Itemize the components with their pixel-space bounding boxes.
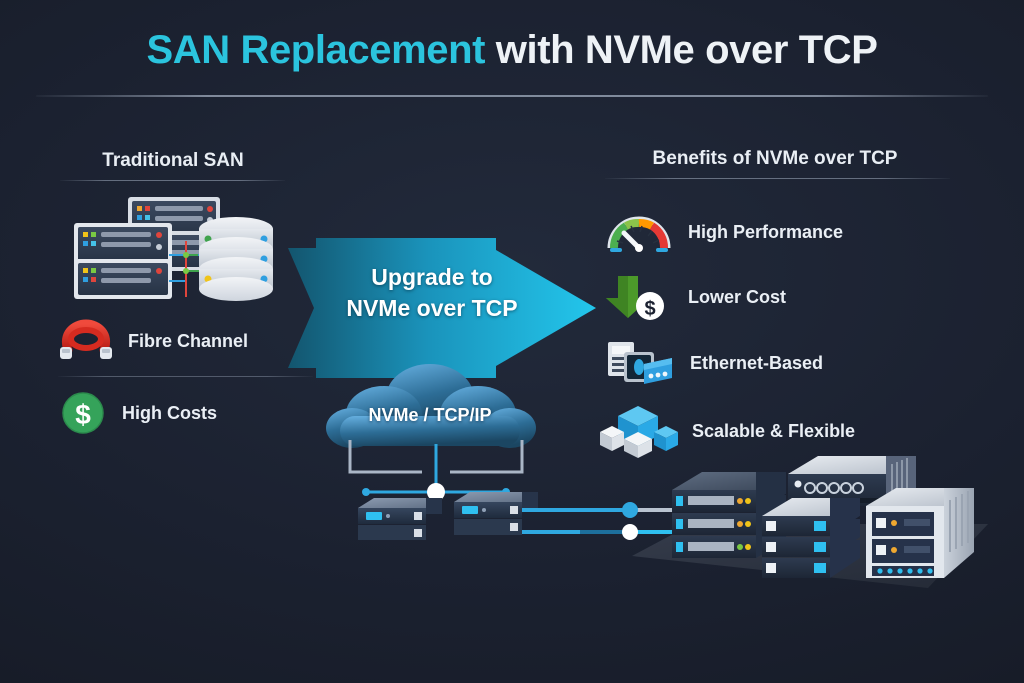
left-item-label: Fibre Channel: [128, 331, 248, 352]
page-title: SAN Replacement with NVMe over TCP: [0, 28, 1024, 73]
right-column-divider: [605, 178, 950, 179]
page-title-accent: SAN Replacement: [146, 28, 485, 72]
left-items-divider: [58, 376, 313, 377]
upgrade-arrow-banner: [288, 238, 600, 378]
green-down-arrow-dollar-icon: $: [604, 272, 674, 322]
left-column-divider: [60, 180, 285, 181]
left-item-fibre-channel: Fibre Channel: [58, 318, 248, 364]
right-item-ethernet-based: Ethernet-Based: [604, 338, 823, 388]
left-item-label: High Costs: [122, 403, 217, 424]
right-item-label: Ethernet-Based: [690, 353, 823, 374]
left-column-heading: Traditional SAN: [48, 150, 298, 172]
speedometer-gauge-icon: [604, 208, 674, 256]
right-item-label: Lower Cost: [688, 287, 786, 308]
right-item-lower-cost: $ Lower Cost: [604, 272, 786, 322]
right-item-high-performance: High Performance: [604, 208, 843, 256]
title-divider: [36, 95, 988, 97]
dollar-coin-icon: $: [58, 390, 108, 436]
svg-text:$: $: [75, 399, 91, 430]
right-item-scalable-flexible: Scalable & Flexible: [600, 404, 855, 458]
page-title-plain: with NVMe over TCP: [496, 28, 878, 72]
infographic-canvas: SAN Replacement with NVMe over TCP Tradi…: [0, 0, 1024, 683]
right-item-label: High Performance: [688, 222, 843, 243]
fibre-channel-cable-icon: [58, 318, 114, 364]
svg-text:$: $: [644, 298, 655, 320]
connected-cubes-icon: [600, 404, 678, 458]
nvme-storage-rack-cluster: [628, 440, 992, 600]
right-item-label: Scalable & Flexible: [692, 421, 855, 442]
network-devices-icon: [604, 338, 676, 388]
left-item-high-costs: $ High Costs: [58, 390, 217, 436]
san-servers-and-storage-illustration: [68, 193, 283, 305]
right-column-heading: Benefits of NVMe over TCP: [600, 148, 950, 170]
